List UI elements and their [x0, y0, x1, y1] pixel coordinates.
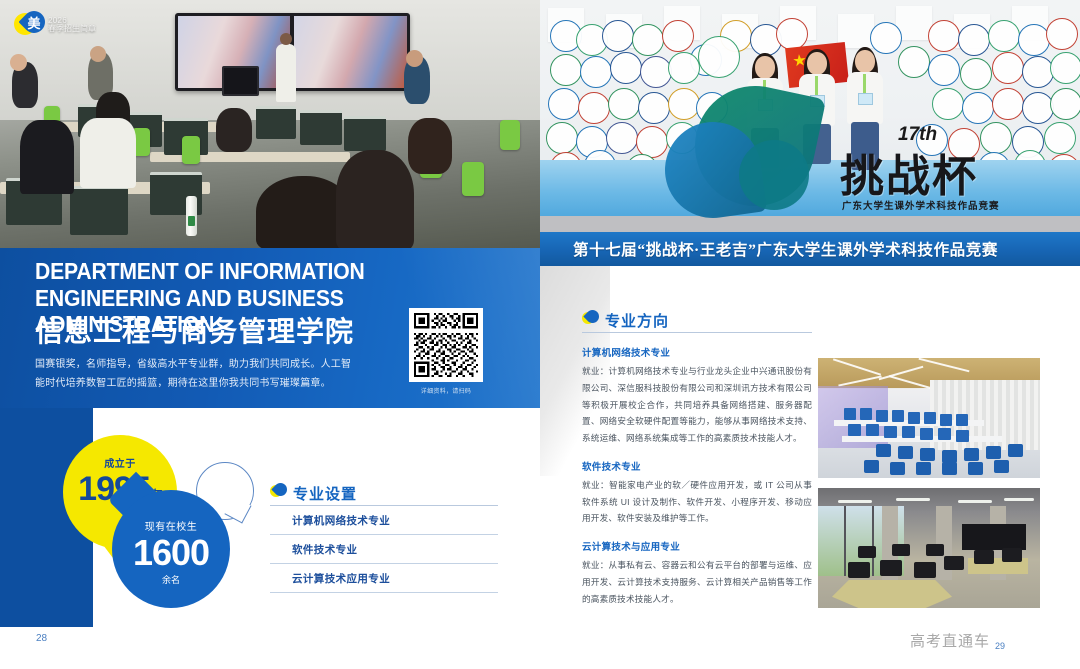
major-item[interactable]: 云计算技术应用专业 — [270, 564, 498, 593]
direction-section-header: 专业方向 — [582, 310, 812, 333]
photo-person — [90, 46, 106, 62]
photo-student — [408, 118, 452, 174]
photo-bottle — [186, 196, 197, 236]
direction-body: 就业：智能家电产业的软／硬件应用开发，或 IT 公司从事软件系统 UI 设计及制… — [582, 477, 812, 527]
pin-marker-icon — [582, 310, 599, 329]
chinese-title: 信息工程与商务管理学院 — [35, 310, 354, 350]
photo-student — [80, 118, 136, 188]
challenge-cup-emblem — [665, 86, 865, 216]
founded-label: 成立于 — [63, 455, 177, 470]
direction-block: 计算机网络技术专业 就业：计算机网络技术专业与行业龙头企业中兴通讯股份有限公司、… — [582, 345, 812, 447]
students-label: 现有在校生 — [112, 518, 230, 533]
classroom-photo: 美 2026 春季招生简章 — [0, 0, 540, 250]
students-stat-bubble: 现有在校生 1600 余名 — [112, 490, 230, 608]
page-number-right: 29 — [995, 641, 1005, 651]
facility-photos — [818, 358, 1040, 608]
pin-marker-icon — [270, 483, 287, 502]
photo-person — [406, 50, 423, 67]
majors-list: 计算机网络技术专业 软件技术专业 云计算技术应用专业 — [270, 506, 498, 593]
majors-section: 专业设置 计算机网络技术专业 软件技术专业 云计算技术应用专业 — [270, 483, 498, 593]
page-number-left: 28 — [36, 633, 47, 644]
direction-block: 云计算技术与应用专业 就业：从事私有云、容器云和公有云平台的部署与运维、应用开发… — [582, 539, 812, 607]
students-value: 1600 — [112, 535, 230, 571]
direction-heading: 云计算技术与应用专业 — [582, 539, 812, 553]
logo-character: 美 — [23, 11, 45, 33]
major-item[interactable]: 计算机网络技术专业 — [270, 506, 498, 535]
majors-section-header: 专业设置 — [270, 483, 498, 506]
major-item[interactable]: 软件技术专业 — [270, 535, 498, 564]
majors-section-title: 专业设置 — [293, 487, 357, 502]
watermark-label: 高考直通车 — [910, 630, 990, 651]
direction-section-title: 专业方向 — [605, 314, 669, 329]
students-unit: 余名 — [112, 573, 230, 586]
qr-code-icon[interactable] — [409, 308, 483, 382]
photo-student — [216, 108, 252, 152]
brand-logo: 美 2026 春季招生简章 — [14, 10, 100, 40]
direction-heading: 计算机网络技术专业 — [582, 345, 812, 359]
photo-presenter — [276, 44, 296, 102]
direction-section: 专业方向 计算机网络技术专业 就业：计算机网络技术专业与行业龙头企业中兴通讯股份… — [582, 310, 812, 607]
qr-block[interactable]: 详细资料，请扫码 — [404, 308, 488, 395]
direction-body: 就业：计算机网络技术专业与行业龙头企业中兴通讯股份有限公司、深信服科技股份有限公… — [582, 363, 812, 447]
direction-heading: 软件技术专业 — [582, 459, 812, 473]
competition-banner: 第十七届“挑战杯·王老吉”广东大学生课外学术科技作品竞赛 — [540, 232, 1080, 266]
competition-photo: 17th 挑战杯 广东大学生课外学术科技作品竞赛 — [540, 0, 1080, 232]
qr-caption: 详细资料，请扫码 — [404, 386, 488, 395]
left-page: 美 2026 春季招生简章 DEPARTMENT OF INFORMATION … — [0, 0, 540, 669]
event-subtitle: 广东大学生课外学术科技作品竞赛 — [842, 198, 1000, 212]
event-name-calligraphy: 挑战杯 — [840, 140, 978, 204]
computer-lab-photo — [818, 358, 1040, 478]
innovation-lab-photo — [818, 488, 1040, 608]
lead-paragraph: 国赛银奖，名师指导，省级高水平专业群，助力我们共同成长。人工智能时代培养数智工匠… — [35, 356, 355, 393]
photo-monitor — [222, 66, 259, 96]
brochure-spread: 美 2026 春季招生简章 DEPARTMENT OF INFORMATION … — [0, 0, 1080, 669]
photo-person — [10, 54, 27, 71]
logo-mark-icon: 美 — [14, 11, 42, 39]
photo-student — [336, 150, 414, 250]
photo-student — [20, 120, 74, 194]
direction-block: 软件技术专业 就业：智能家电产业的软／硬件应用开发，或 IT 公司从事软件系统 … — [582, 459, 812, 527]
direction-body: 就业：从事私有云、容器云和公有云平台的部署与运维、应用开发、云计算技术支持服务、… — [582, 557, 812, 607]
logo-tagline: 春季招生简章 — [48, 25, 96, 33]
banner-title: 第十七届“挑战杯·王老吉”广东大学生课外学术科技作品竞赛 — [573, 238, 998, 260]
right-page: 17th 挑战杯 广东大学生课外学术科技作品竞赛 第十七届“挑战杯·王老吉”广东… — [540, 0, 1080, 669]
